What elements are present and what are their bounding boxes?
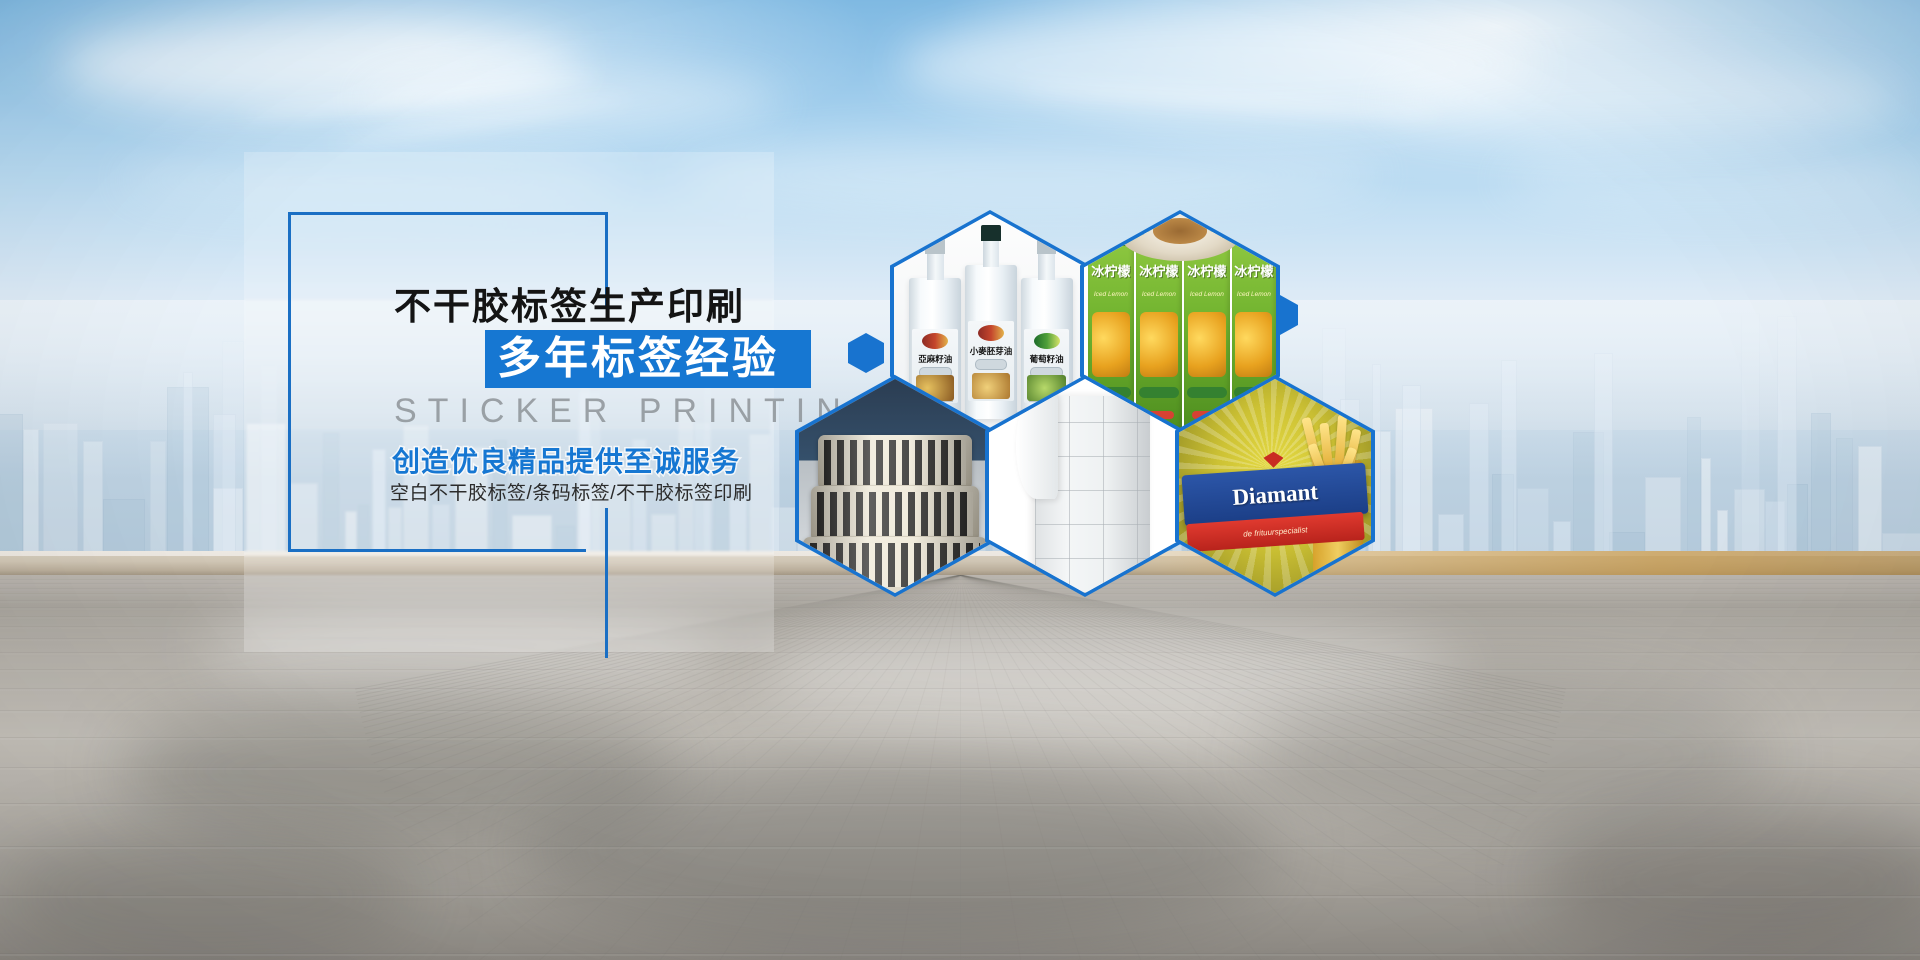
lemon-title-4: 冰柠檬 xyxy=(1232,261,1276,280)
lemon-subtitle-3: Iced Lemon xyxy=(1184,291,1230,298)
lemon-title-2: 冰柠檬 xyxy=(1136,261,1182,280)
lemon-subtitle-4: Iced Lemon xyxy=(1232,291,1276,298)
lemon-subtitle-2: Iced Lemon xyxy=(1136,291,1182,298)
decorative-hexagon-icon xyxy=(848,333,884,373)
product-hexagon-cluster: 亞麻籽油 小麥胚芽油 葡萄籽油 xyxy=(790,195,1350,575)
diamant-brand: Diamant xyxy=(1182,475,1368,514)
lemon-subtitle-1: Iced Lemon xyxy=(1088,291,1134,298)
headline: 不干胶标签生产印刷 xyxy=(394,276,745,330)
bottle-label-1: 亞麻籽油 xyxy=(912,353,958,365)
lemon-title-1: 冰柠檬 xyxy=(1088,261,1134,280)
highlight-text: 多年标签经验 xyxy=(497,334,779,384)
diamant-slogan: de frituurspecialist xyxy=(1187,521,1364,542)
tagline: 创造优良精品提供至诚服务 xyxy=(392,440,740,480)
promo-banner: 不干胶标签生产印刷 多年标签经验 STICKER PRINTING 创造优良精品… xyxy=(0,0,1920,960)
bottle-label-3: 葡萄籽油 xyxy=(1024,353,1070,365)
services-list: 空白不干胶标签/条码标签/不干胶标签印刷 xyxy=(390,478,753,505)
tagline-text: 创造优良精品提供至诚服务 xyxy=(392,446,740,477)
lemon-title-3: 冰柠檬 xyxy=(1184,261,1230,280)
bottle-label-2: 小麥胚芽油 xyxy=(968,345,1014,357)
